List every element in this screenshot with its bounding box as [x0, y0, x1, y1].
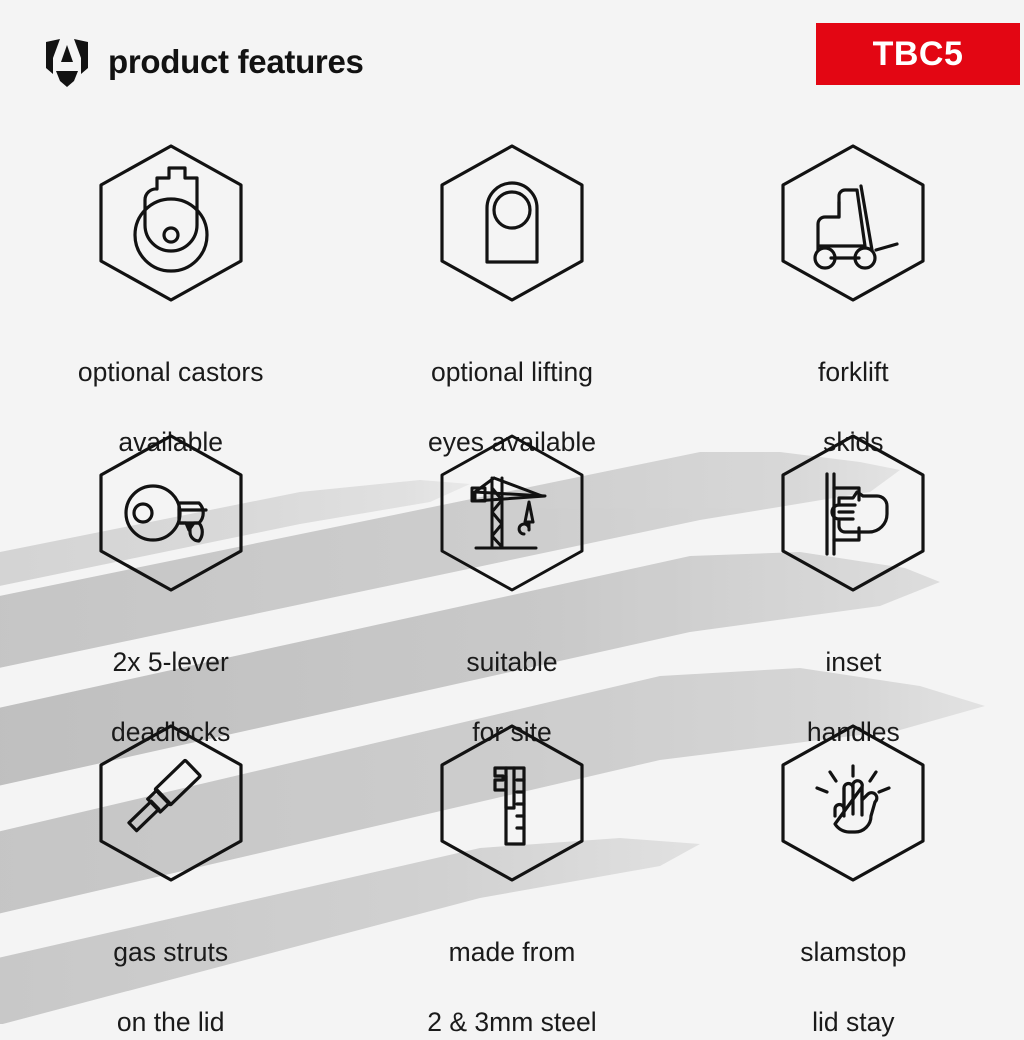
forklift-icon [773, 140, 933, 306]
key-icon [91, 430, 251, 596]
feature-caption: slamstop lid stay [800, 900, 906, 1040]
feature-caption: gas struts on the lid [113, 900, 228, 1040]
gas-strut-icon [91, 720, 251, 886]
feature-item-inset-handles[interactable]: inset handles [683, 430, 1024, 720]
lifting-eye-icon [432, 140, 592, 306]
feature-item-gas-struts[interactable]: gas struts on the lid [0, 720, 341, 1010]
feature-item-lifting-eyes[interactable]: optional lifting eyes available [341, 140, 682, 430]
page-title: product features [108, 40, 364, 84]
feature-item-deadlocks[interactable]: 2x 5-lever deadlocks [0, 430, 341, 720]
model-badge: TBC5 [816, 23, 1020, 85]
tower-crane-icon [432, 430, 592, 596]
feature-item-suitable-for-site[interactable]: suitable for site [341, 430, 682, 720]
feature-item-forklift-skids[interactable]: forklift skids [683, 140, 1024, 430]
model-badge-label: TBC5 [873, 35, 964, 74]
feature-item-steel-thickness[interactable]: made from 2 & 3mm steel [341, 720, 682, 1010]
infographic-canvas: product features TBC5 optional castors a… [0, 0, 1024, 1024]
feature-grid: optional castors available optional lift… [0, 140, 1024, 1010]
inset-handle-icon [773, 430, 933, 596]
castor-wheel-icon [91, 140, 251, 306]
page-header: product features TBC5 [0, 0, 1024, 110]
slamstop-hand-icon [773, 720, 933, 886]
feature-item-castors[interactable]: optional castors available [0, 140, 341, 430]
caliper-icon [432, 720, 592, 886]
shield-a-logo [43, 38, 91, 88]
feature-caption: made from 2 & 3mm steel [427, 900, 596, 1040]
feature-item-slamstop[interactable]: slamstop lid stay [683, 720, 1024, 1010]
